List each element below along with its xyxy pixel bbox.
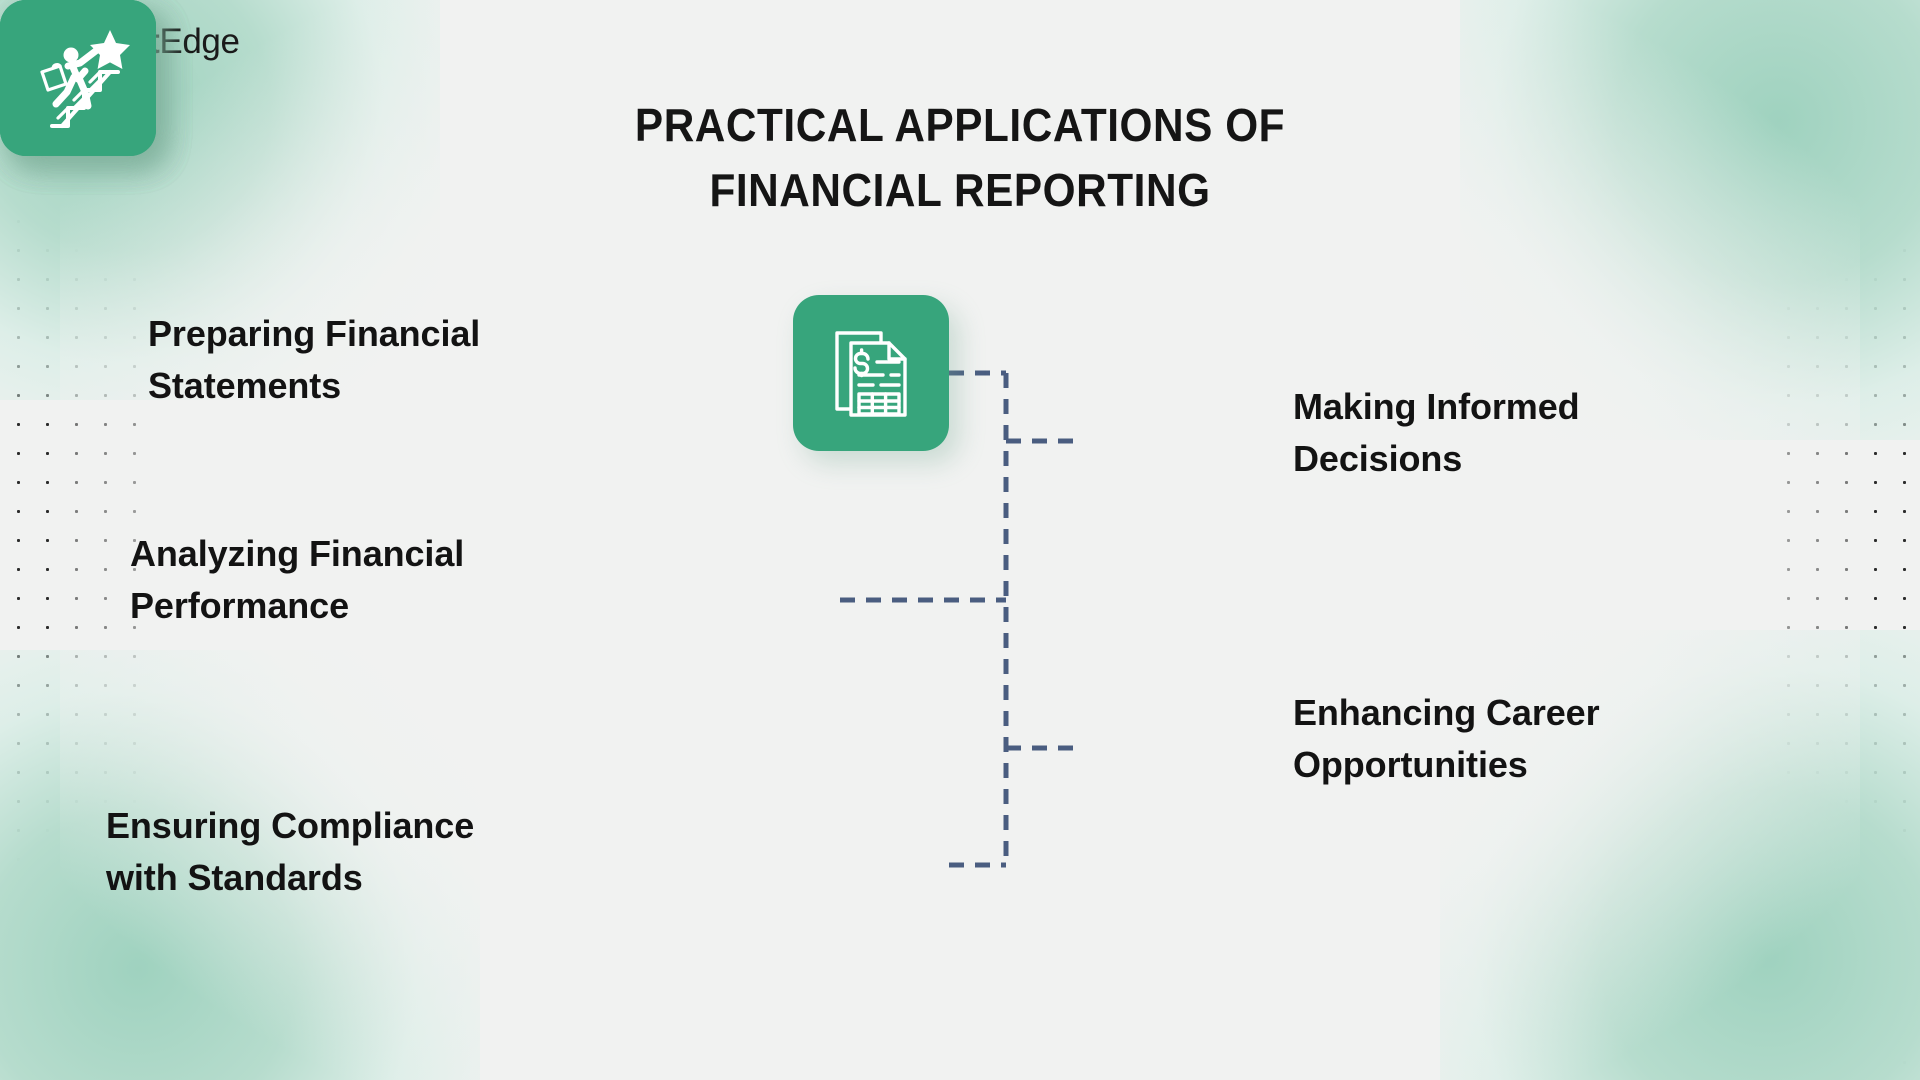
label-enhancing-career-opportunities: Enhancing Career Opportunities bbox=[1293, 687, 1600, 791]
label-making-informed-decisions: Making Informed Decisions bbox=[1293, 381, 1580, 485]
icon-tile-enhancing-career-opportunities[interactable] bbox=[0, 0, 156, 156]
page-title-line-2: FINANCIAL REPORTING bbox=[77, 158, 1843, 223]
financial-document-icon bbox=[815, 317, 927, 429]
label-line-2: Opportunities bbox=[1293, 739, 1600, 791]
page-title: PRACTICAL APPLICATIONS OF FINANCIAL REPO… bbox=[77, 93, 1843, 224]
page-title-line-1: PRACTICAL APPLICATIONS OF bbox=[77, 93, 1843, 158]
label-line-1: Ensuring Compliance bbox=[106, 800, 474, 852]
label-line-2: Performance bbox=[130, 580, 464, 632]
label-ensuring-compliance-with-standards: Ensuring Compliance with Standards bbox=[106, 800, 474, 904]
label-line-1: Preparing Financial bbox=[148, 308, 480, 360]
label-line-2: Statements bbox=[148, 360, 480, 412]
icon-tile-preparing-financial-statements[interactable] bbox=[793, 295, 949, 451]
label-line-2: Decisions bbox=[1293, 433, 1580, 485]
career-stairs-star-icon bbox=[22, 22, 134, 134]
label-analyzing-financial-performance: Analyzing Financial Performance bbox=[130, 528, 464, 632]
label-line-1: Analyzing Financial bbox=[130, 528, 464, 580]
brand-name-light: Edge bbox=[159, 22, 239, 61]
infographic-stage: QuintEdge PRACTICAL APPLICATIONS OF FINA… bbox=[0, 0, 1920, 1080]
label-line-1: Enhancing Career bbox=[1293, 687, 1600, 739]
label-line-1: Making Informed bbox=[1293, 381, 1580, 433]
label-preparing-financial-statements: Preparing Financial Statements bbox=[148, 308, 480, 412]
label-line-2: with Standards bbox=[106, 852, 474, 904]
